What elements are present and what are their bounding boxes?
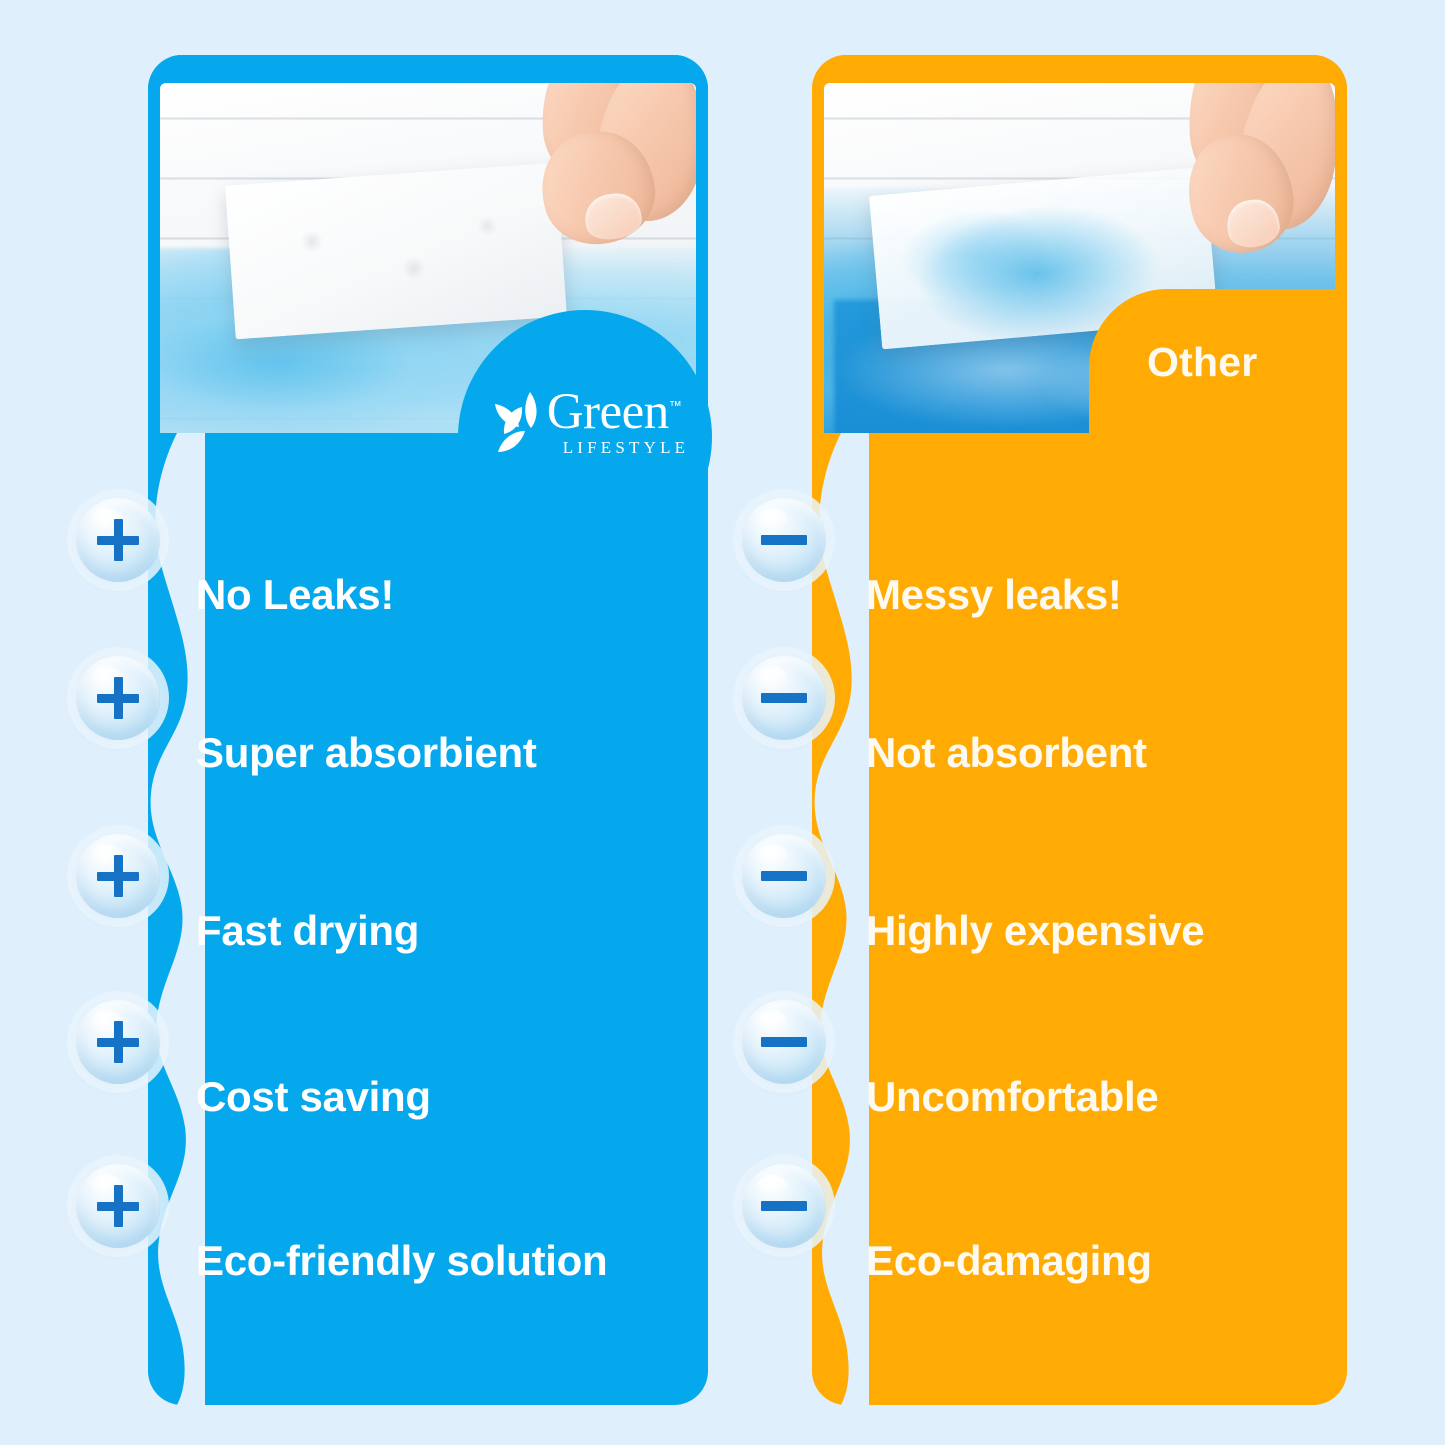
minus-icon — [742, 1164, 826, 1248]
trademark-icon: ™ — [669, 398, 682, 413]
comparison-infographic: Green™ LIFESTYLE No Leaks! Super absorbi… — [0, 0, 1445, 1445]
green-lifestyle-panel: Green™ LIFESTYLE No Leaks! Super absorbi… — [148, 55, 708, 1405]
minus-icon — [742, 834, 826, 918]
feature-label: Highly expensive — [866, 910, 1204, 952]
other-feature-list: Messy leaks! Not absorbent Highly expens… — [812, 433, 1347, 1405]
plus-icon — [76, 1164, 160, 1248]
green-lifestyle-logo: Green™ LIFESTYLE — [458, 310, 712, 564]
minus-icon — [742, 656, 826, 740]
feature-label: Uncomfortable — [866, 1076, 1158, 1118]
other-panel: Other Messy leaks! Not absorbent Highly … — [812, 55, 1347, 1405]
feature-label: Cost saving — [196, 1076, 431, 1118]
logo-brand-name: Green™ — [547, 388, 682, 437]
feature-label: Super absorbient — [196, 732, 537, 774]
other-title-notch: Other — [1089, 289, 1347, 435]
plus-icon — [76, 656, 160, 740]
plus-icon — [76, 498, 160, 582]
plus-icon — [76, 834, 160, 918]
hand-icon — [417, 83, 696, 328]
logo-tagline: LIFESTYLE — [563, 438, 690, 458]
other-title: Other — [1147, 339, 1257, 386]
leaf-cluster-icon — [489, 390, 551, 456]
feature-label: Not absorbent — [866, 732, 1147, 774]
logo-brand-text: Green — [547, 384, 669, 440]
green-lifestyle-feature-list: No Leaks! Super absorbient Fast drying C… — [148, 433, 708, 1405]
feature-label: Fast drying — [196, 910, 419, 952]
feature-label: Eco-damaging — [866, 1240, 1152, 1282]
feature-label: Messy leaks! — [866, 574, 1122, 616]
feature-label: Eco-friendly solution — [196, 1240, 607, 1282]
minus-icon — [742, 498, 826, 582]
minus-icon — [742, 1000, 826, 1084]
plus-icon — [76, 1000, 160, 1084]
feature-label: No Leaks! — [196, 574, 394, 616]
